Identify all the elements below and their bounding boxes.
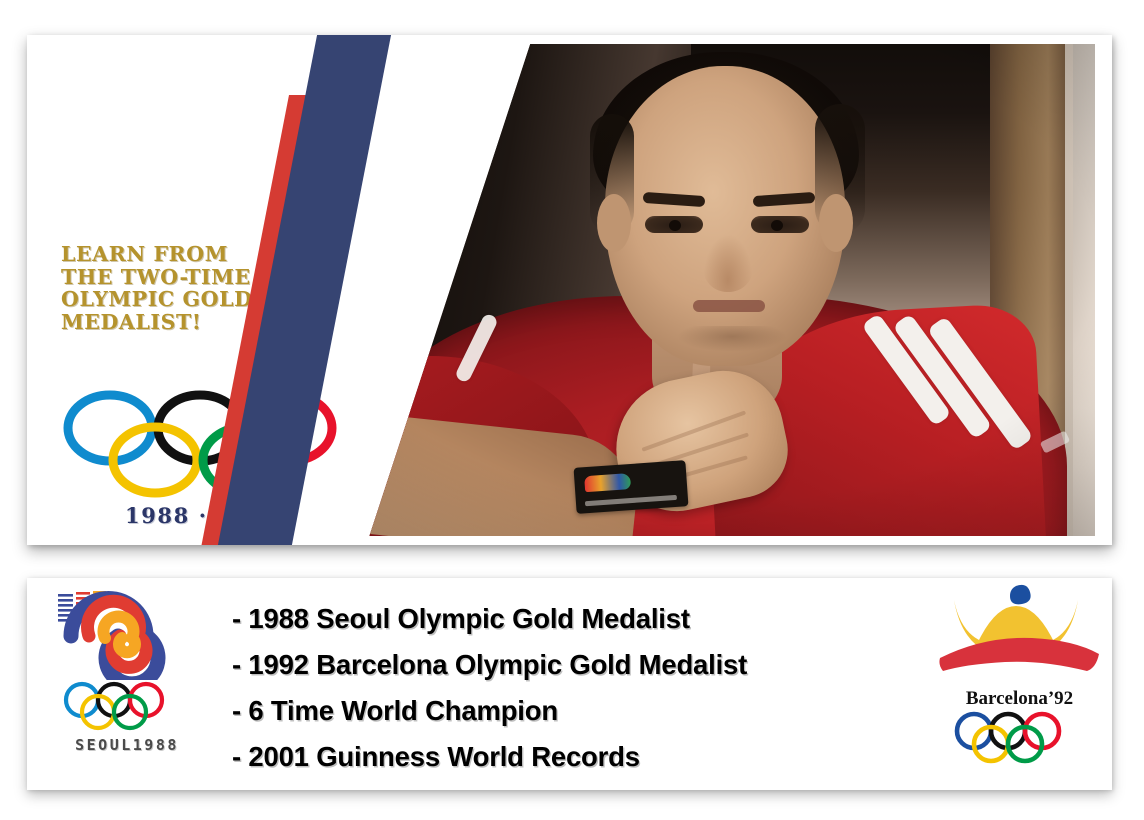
list-item: - 1992 Barcelona Olympic Gold Medalist [232,642,952,688]
seoul-wordmark: SEOUL1988 [52,736,202,754]
photo-background-panel [1065,44,1095,536]
patch-text-line [585,495,677,506]
list-item: - 6 Time World Champion [232,688,952,734]
olympic-rings-icon [932,711,1107,765]
barcelona-figure-icon [932,578,1107,688]
athlete-photo [347,44,1095,536]
seoul-spiral-icon [52,580,202,680]
athlete-chin-shadow [677,326,787,352]
athlete-ear [597,194,631,252]
athlete-pupil [669,220,681,231]
athlete-nose [703,234,753,292]
patch-logo-icon [584,473,631,492]
achievements-list: - 1988 Seoul Olympic Gold Medalist - 199… [232,596,952,780]
uniform-chest-patch [574,460,689,514]
seoul-1988-logo: SEOUL1988 [52,580,202,754]
hero-card: LEARN FROM THE TWO-TIME OLYMPIC GOLD MED… [27,35,1112,545]
athlete-eye [751,216,809,233]
olympic-rings-icon [52,680,202,732]
barcelona-wordmark: Barcelona’92 [932,688,1107,710]
athlete-knuckle [641,410,746,451]
athlete-eye [645,216,703,233]
athlete-head [605,66,845,366]
barcelona-92-logo: Barcelona’92 [932,578,1107,765]
athlete-pupil [771,220,783,231]
list-item: - 2001 Guinness World Records [232,734,952,780]
athlete-ear [819,194,853,252]
list-item: - 1988 Seoul Olympic Gold Medalist [232,596,952,642]
athlete-mouth [693,300,765,312]
